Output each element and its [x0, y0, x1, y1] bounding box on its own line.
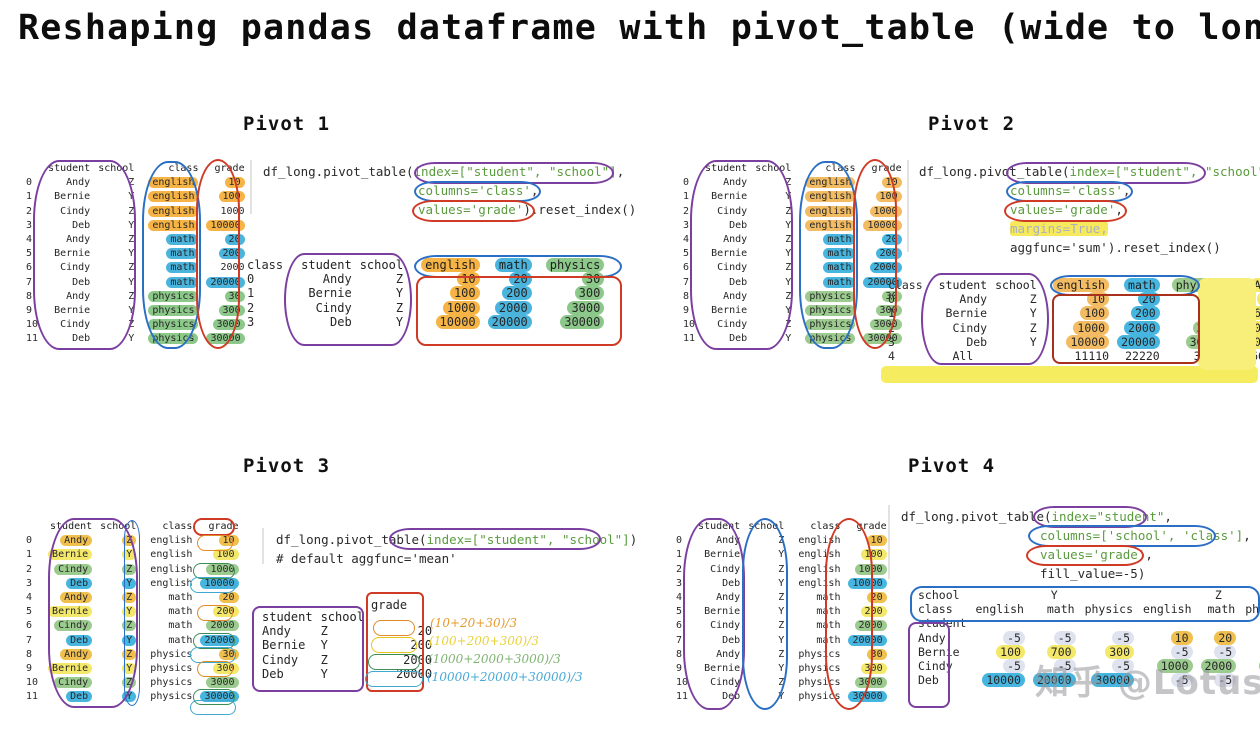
cell-school: Y	[744, 548, 788, 562]
table-row: 7DebYmath20000	[672, 634, 891, 648]
cell-school: Z	[94, 176, 138, 190]
corner-label-class: class	[884, 278, 929, 292]
cell-math: 20	[1138, 292, 1160, 306]
cell-grade: 20000	[206, 277, 244, 288]
cell-math: 2000	[495, 301, 532, 315]
cell-grade: 30	[219, 649, 239, 660]
cell-y-physics: 300	[1105, 645, 1134, 659]
cell-y-english: -5	[1003, 631, 1025, 645]
code-arg-columns: columns='class'	[418, 183, 531, 198]
cell-grade: 2000	[221, 262, 245, 273]
cell-class: english	[805, 177, 855, 188]
cell-student: Bernie	[44, 190, 94, 204]
cell-school: Y	[94, 247, 138, 261]
col-header-student: student	[701, 162, 751, 176]
cell-school: Y	[122, 606, 136, 617]
cell-class: physics	[140, 690, 196, 704]
cell-student: Andy	[929, 292, 991, 306]
row-index: 10	[672, 676, 694, 690]
cell-class: math	[166, 277, 198, 288]
cell-school: Y	[122, 663, 136, 674]
table-row: 4AndyZmath20	[672, 591, 891, 605]
cell-z-math: 20	[1214, 631, 1236, 645]
row-index: 6	[22, 261, 44, 275]
cell-school: Y	[751, 190, 795, 204]
cell-student: Cindy	[44, 261, 94, 275]
code-gutter-p1	[250, 160, 252, 214]
cell-student: Deb	[929, 335, 991, 349]
cell-student: Bernie	[44, 247, 94, 261]
row-index: 11	[22, 332, 44, 346]
col-header-physics: physics	[546, 258, 605, 272]
cell-all: 66660	[1232, 349, 1260, 363]
cell-school: Z	[122, 649, 136, 660]
source-dataframe-pivot-3: student school class grade 0AndyZenglish…	[22, 520, 243, 705]
table-header-row: class student school english math physic…	[884, 278, 1260, 292]
row-index: 7	[22, 276, 44, 290]
cell-student: Cindy	[694, 619, 744, 633]
table-row: 10CindyZphysics3000	[22, 676, 243, 690]
table-row: 11DebYphysics30000	[672, 690, 891, 704]
table-row: 10CindyZphysics3000	[672, 676, 891, 690]
cell-math: 20	[509, 272, 531, 286]
cell-z-english: -5	[1171, 645, 1193, 659]
cell-class: math	[823, 248, 855, 259]
margins-row-highlight-p2	[881, 366, 1258, 383]
cell-grade: 20000	[200, 635, 238, 646]
row-index: 11	[672, 690, 694, 704]
cell-english: 10000	[1066, 335, 1109, 349]
table-row: 5BernieYmath200	[672, 605, 891, 619]
result-table-pivot-3: student school AndyZ20 BernieY200 CindyZ…	[258, 610, 436, 681]
row-index: 11	[22, 690, 44, 704]
cell-school: Z	[317, 653, 368, 667]
row-index: 1	[672, 548, 694, 562]
row-index: 9	[679, 304, 701, 318]
table-row: 10CindyZphysics3000	[679, 318, 906, 332]
school-header-row: school Y Z	[914, 588, 1260, 602]
cell-y-math: -5	[1054, 659, 1076, 673]
cell-physics: 30	[582, 272, 604, 286]
cell-school: Z	[744, 676, 788, 690]
code-call-head: df_long.pivot_table(	[919, 164, 1070, 179]
cell-grade: 20	[225, 234, 245, 245]
table-row: AndyZ20	[258, 624, 436, 638]
cell-student: Deb	[694, 634, 744, 648]
cell-physics: 33330	[1164, 349, 1232, 363]
code-block-pivot-3: df_long.pivot_table(index=["student", "s…	[276, 530, 637, 549]
table-row: 11DebYphysics30000	[22, 332, 249, 346]
cell-school: Y	[744, 605, 788, 619]
source-dataframe-pivot-2: student school class grade 0AndyZenglish…	[679, 162, 906, 347]
cell-class: english	[805, 191, 855, 202]
table-header-row: student school class grade	[22, 520, 243, 534]
code-line1-tail: )	[630, 532, 638, 547]
table-row: 2CindyZenglish1000	[672, 563, 891, 577]
code-gutter-p4	[888, 505, 890, 579]
table-row: 6CindyZmath2000	[679, 261, 906, 275]
row-index: 0	[679, 176, 701, 190]
cell-student: Cindy	[694, 563, 744, 577]
cell-all: 6000	[1243, 321, 1260, 335]
cell-student: Deb	[289, 315, 356, 329]
result-table-pivot-4: school Y Z class english math physics en…	[914, 588, 1260, 687]
cell-school: Y	[356, 315, 407, 329]
table-row: 2CindyZ100020003000	[243, 301, 608, 315]
row-index: 5	[22, 605, 44, 619]
table-row: 1BernieYenglish100	[22, 548, 243, 562]
cell-z-math: -5	[1214, 673, 1236, 687]
row-index: 4	[672, 591, 694, 605]
row-index: 2	[672, 563, 694, 577]
table-row: Bernie 100 700 300 -5 -5 -5	[914, 645, 1260, 659]
cell-student: Andy	[60, 649, 92, 660]
index-header	[22, 520, 44, 534]
cell-student: Deb	[701, 332, 751, 346]
cell-school: Y	[751, 247, 795, 261]
cell-grade: 20	[219, 592, 239, 603]
cell-grade: 10	[225, 177, 245, 188]
code-comment-p3: # default aggfunc='mean'	[276, 549, 457, 568]
code-arg-index: index="student"	[1052, 509, 1165, 524]
code-arg-index: index=["student", "school"]	[1070, 164, 1260, 179]
cell-student: Andy	[701, 176, 751, 190]
col-header-student: student	[258, 610, 317, 624]
cell-school: Z	[122, 535, 136, 546]
row-index: 6	[679, 261, 701, 275]
cell-class: physics	[140, 662, 196, 676]
cell-student: Bernie	[701, 304, 751, 318]
table-row: 2CindyZenglish1000	[22, 563, 243, 577]
cell-school: Y	[317, 667, 368, 681]
code-line3-tail: ).reset_index()	[523, 202, 636, 217]
cell-y-math: 20000	[1033, 673, 1076, 687]
cell-grade: 1000	[870, 206, 902, 217]
index-header	[22, 162, 44, 176]
row-index: 3	[22, 577, 44, 591]
cell-all: 60000	[1236, 335, 1260, 349]
cell-student: Cindy	[258, 653, 317, 667]
cell-student: Deb	[701, 219, 751, 233]
row-label-student: student	[914, 616, 970, 630]
col-header-student: student	[44, 162, 94, 176]
cell-grade: 2000	[368, 653, 436, 667]
cell-school: Y	[751, 276, 795, 290]
table-row: 7DebYmath20000	[679, 276, 906, 290]
cell-school: Z	[94, 261, 138, 275]
cell-school: Z	[751, 261, 795, 275]
school-group-y: Y	[970, 588, 1138, 602]
col-header-school: school	[96, 520, 140, 534]
cell-class: math	[788, 591, 844, 605]
table-row: 4AndyZmath20	[22, 233, 249, 247]
cell-student: Cindy	[289, 301, 356, 315]
cell-student: Deb	[701, 276, 751, 290]
cell-student: Deb	[914, 673, 970, 687]
cell-student: Deb	[258, 667, 317, 681]
table-row: CindyZ2000	[258, 653, 436, 667]
col-header-z-math: math	[1197, 602, 1241, 616]
cell-class: english	[148, 177, 198, 188]
cell-class: physics	[148, 333, 198, 344]
cell-school: Z	[991, 292, 1041, 306]
code-arg-values: values='grade'	[1010, 202, 1115, 217]
cell-school: Z	[94, 233, 138, 247]
cell-physics: 3000	[567, 301, 604, 315]
source-dataframe-pivot-1: student school class grade 0AndyZenglish…	[22, 162, 249, 347]
cell-grade: 200	[861, 606, 887, 617]
cell-school: Z	[751, 176, 795, 190]
cell-school: Z	[991, 321, 1041, 335]
table-row: 1BernieY100200300	[243, 286, 608, 300]
table-header-row: class student school english math physic…	[243, 258, 608, 272]
table-row: 0AndyZenglish10	[679, 176, 906, 190]
cell-grade: 200	[219, 248, 245, 259]
cell-school: Z	[94, 318, 138, 332]
cell-z-math: 2000	[1201, 659, 1237, 673]
index-header	[672, 520, 694, 534]
row-index: 9	[672, 662, 694, 676]
cell-student: Cindy	[929, 321, 991, 335]
table-row: 0AndyZenglish10	[22, 176, 249, 190]
table-row: 0AndyZenglish10	[22, 534, 243, 548]
section-title-pivot-1: Pivot 1	[243, 113, 330, 135]
row-index: 8	[22, 648, 44, 662]
col-header-y-physics: physics	[1080, 602, 1138, 616]
code-call-head: df_long.pivot_table(	[263, 164, 414, 179]
cell-student: Andy	[258, 624, 317, 638]
col-header-student: student	[289, 258, 356, 272]
cell-student: Bernie	[289, 286, 356, 300]
cell-student: Bernie	[48, 549, 92, 560]
cell-y-physics: -5	[1112, 631, 1134, 645]
corner-label-class: class	[243, 258, 289, 272]
code-arg-columns: columns='class'	[1010, 183, 1123, 198]
code-line-columns-p1: columns='class',	[418, 181, 538, 200]
cell-school: Z	[744, 648, 788, 662]
cell-class: physics	[788, 648, 844, 662]
table-row: 5BernieYmath200	[22, 247, 249, 261]
table-row: 3DebYenglish10000	[22, 577, 243, 591]
col-header-grade: grade	[202, 162, 248, 176]
cell-student: All	[929, 349, 991, 363]
row-index: 8	[679, 290, 701, 304]
cell-student: Deb	[44, 276, 94, 290]
row-index: 6	[22, 619, 44, 633]
table-row: 1BernieY100200300600	[884, 306, 1260, 320]
row-index: 4	[679, 233, 701, 247]
table-row: Deb 10000 20000 30000 -5 -5 -5	[914, 673, 1260, 687]
row-index: 1	[243, 286, 289, 300]
cell-grade: 10000	[200, 578, 238, 589]
cell-student: Andy	[60, 535, 92, 546]
row-index: 4	[22, 591, 44, 605]
cell-grade: 10000	[206, 220, 244, 231]
table-row: 0AndyZenglish10	[672, 534, 891, 548]
section-title-pivot-3: Pivot 3	[243, 455, 330, 477]
row-index: 3	[884, 335, 929, 349]
cell-student: Deb	[66, 578, 92, 589]
cell-physics: 30000	[1186, 335, 1229, 349]
code-block-pivot-1: df_long.pivot_table(index=["student", "s…	[263, 162, 624, 181]
index-header	[679, 162, 701, 176]
cell-student: Andy	[289, 272, 356, 286]
cell-grade: 2000	[870, 262, 902, 273]
class-header-row: class english math physics english math …	[914, 602, 1260, 616]
table-row: 1BernieYenglish100	[679, 190, 906, 204]
col-header-z-physics: physics	[1240, 602, 1260, 616]
cell-school: Z	[744, 619, 788, 633]
cell-student: Bernie	[48, 663, 92, 674]
col-header-y-math: math	[1029, 602, 1080, 616]
cell-class: math	[140, 634, 196, 648]
cell-english: 100	[1080, 306, 1109, 320]
col-header-school: school	[317, 610, 368, 624]
cell-math: 2000	[1124, 321, 1160, 335]
cell-school: Y	[751, 304, 795, 318]
table-row: 3DebYenglish10000	[672, 577, 891, 591]
cell-student: Cindy	[44, 318, 94, 332]
cell-school: Y	[744, 577, 788, 591]
cell-school: Y	[991, 306, 1041, 320]
cell-grade: 2000	[206, 620, 238, 631]
cell-english: 10	[457, 272, 479, 286]
cell-school: Y	[122, 691, 136, 702]
cell-student: Andy	[60, 592, 92, 603]
cell-grade: 200	[213, 606, 239, 617]
table-row: 6CindyZmath2000	[672, 619, 891, 633]
cell-school: Z	[744, 591, 788, 605]
cell-y-math: -5	[1054, 631, 1076, 645]
col-header-class: class	[788, 520, 844, 534]
cell-student: Andy	[701, 233, 751, 247]
code-line3-tail: ,	[1115, 202, 1123, 217]
cell-class: math	[140, 605, 196, 619]
code-line2-tail: ,	[531, 183, 539, 198]
cell-y-english: -5	[1003, 659, 1025, 673]
cell-grade: 10	[882, 177, 902, 188]
cell-student: Cindy	[54, 677, 92, 688]
cell-class: math	[823, 277, 855, 288]
cell-y-math: 700	[1047, 645, 1076, 659]
table-row: 1BernieYenglish100	[22, 190, 249, 204]
cell-grade: 3000	[206, 677, 238, 688]
row-index: 0	[22, 176, 44, 190]
cell-grade: 300	[861, 663, 887, 674]
col-header-school: school	[991, 278, 1041, 292]
col-header-physics: physics	[1172, 278, 1228, 292]
cell-english: 1000	[443, 301, 480, 315]
table-row: 9BernieYphysics300	[672, 662, 891, 676]
code-arg-columns: columns=['school', 'class']	[1040, 528, 1243, 543]
row-index: 11	[679, 332, 701, 346]
result-table-pivot-1: class student school english math physic…	[243, 258, 608, 329]
code-line-values-p2: values='grade',	[1010, 200, 1123, 219]
cell-grade: 3000	[855, 677, 887, 688]
cell-grade: 30000	[206, 333, 244, 344]
cell-grade: 10000	[863, 220, 901, 231]
col-header-class: class	[138, 162, 202, 176]
cell-class: english	[788, 534, 844, 548]
cell-math: 200	[1131, 306, 1160, 320]
table-row: 9BernieYphysics300	[22, 662, 243, 676]
cell-class: math	[140, 619, 196, 633]
cell-class: english	[140, 548, 196, 562]
cell-class: english	[140, 534, 196, 548]
cell-school: Y	[94, 190, 138, 204]
col-header-english: english	[421, 258, 480, 272]
cell-class: math	[166, 248, 198, 259]
cell-class: physics	[805, 319, 855, 330]
row-index: 2	[243, 301, 289, 315]
cell-student: Bernie	[929, 306, 991, 320]
row-label-class: class	[914, 602, 970, 616]
cell-z-english: -5	[1171, 673, 1193, 687]
cell-student: Deb	[44, 219, 94, 233]
row-index: 7	[672, 634, 694, 648]
cell-student: Andy	[701, 290, 751, 304]
cell-school: Z	[751, 290, 795, 304]
cell-school: Z	[122, 620, 136, 631]
table-row-margins: 4All11110222203333066660	[884, 349, 1260, 363]
cell-student: Bernie	[701, 190, 751, 204]
page-title: Reshaping pandas dataframe with pivot_ta…	[18, 8, 1260, 48]
cell-school: Z	[122, 592, 136, 603]
code-line-values-p1: values='grade').reset_index()	[418, 200, 636, 219]
col-header-grade: grade	[196, 520, 242, 534]
cell-school: Z	[356, 301, 407, 315]
student-label-row: student	[914, 616, 1260, 630]
cell-school	[991, 349, 1041, 363]
cell-student: Cindy	[701, 261, 751, 275]
col-header-school: school	[94, 162, 138, 176]
cell-class: physics	[788, 676, 844, 690]
formula-bernie: (100+200+300)/3	[429, 634, 539, 648]
table-row: 6CindyZmath2000	[22, 261, 249, 275]
cell-school: Z	[94, 290, 138, 304]
row-index: 0	[22, 534, 44, 548]
cell-school: Z	[751, 233, 795, 247]
cell-grade: 100	[213, 549, 239, 560]
cell-physics: 3000	[1193, 321, 1229, 335]
cell-school: Y	[744, 690, 788, 704]
cell-class: math	[823, 234, 855, 245]
table-row: 7DebYmath20000	[22, 276, 249, 290]
cell-class: english	[788, 563, 844, 577]
row-index: 3	[679, 219, 701, 233]
cell-student: Cindy	[694, 676, 744, 690]
table-row: 1BernieYenglish100	[672, 548, 891, 562]
cell-english: 1000	[1073, 321, 1109, 335]
code-line2-tail: ,	[1243, 528, 1251, 543]
code-line-values-p4: values='grade',	[1040, 545, 1153, 564]
code-line-fillvalue-p4: fill_value=-5)	[1040, 564, 1145, 583]
cell-grade: 30000	[200, 691, 238, 702]
row-index: 1	[22, 548, 44, 562]
col-header-student: student	[694, 520, 744, 534]
code-arg-index: index=["student", "school"]	[427, 532, 630, 547]
cell-school: Y	[991, 335, 1041, 349]
cell-school: Z	[94, 205, 138, 219]
cell-z-english: 10	[1171, 631, 1193, 645]
cell-math: 22220	[1113, 349, 1164, 363]
row-index: 2	[679, 205, 701, 219]
col-header-english: english	[1053, 278, 1109, 292]
cell-student: Andy	[44, 233, 94, 247]
cell-student: Bernie	[914, 645, 970, 659]
row-index: 2	[884, 321, 929, 335]
cell-class: math	[166, 234, 198, 245]
